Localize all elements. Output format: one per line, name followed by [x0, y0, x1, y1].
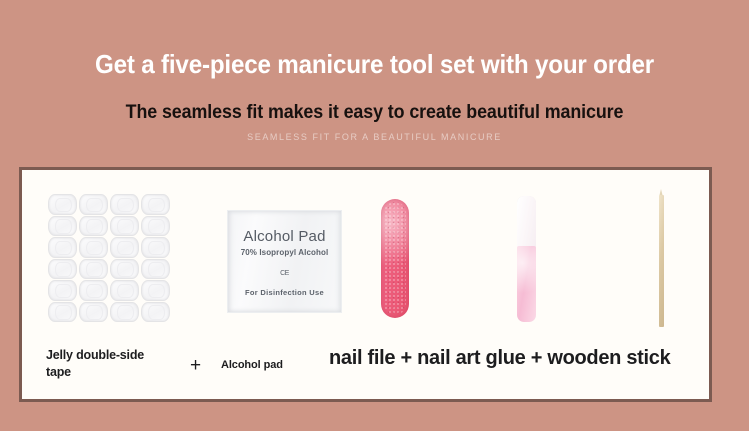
- nail-art-glue-image: [517, 196, 536, 322]
- tape-tab: [110, 280, 139, 301]
- tape-tab: [79, 280, 108, 301]
- tape-tab: [110, 194, 139, 215]
- glue-cap: [517, 196, 536, 249]
- product-caption-row: Jelly double-side tape + Alcohol pad nai…: [22, 338, 709, 399]
- promo-banner: Get a five-piece manicure tool set with …: [0, 0, 749, 431]
- caption-jelly-tape: Jelly double-side tape: [46, 347, 158, 381]
- microcopy-tagline: SEAMLESS FIT FOR A BEAUTIFUL MANICURE: [0, 132, 749, 142]
- product-image-row: Alcohol Pad 70% Isopropyl Alcohol CE For…: [22, 170, 709, 338]
- tape-tab: [48, 216, 77, 237]
- alcohol-pad-image: Alcohol Pad 70% Isopropyl Alcohol CE For…: [227, 210, 342, 313]
- tape-tab: [48, 237, 77, 258]
- tape-tab: [141, 302, 170, 323]
- caption-plus-separator: +: [190, 355, 201, 377]
- tape-tab: [48, 259, 77, 280]
- alcohol-pad-title: Alcohol Pad: [228, 228, 341, 245]
- subheading: The seamless fit makes it easy to create…: [22, 102, 726, 124]
- stick-body: [659, 195, 664, 327]
- alcohol-pad-footer: For Disinfection Use: [228, 288, 341, 297]
- tape-tab: [110, 216, 139, 237]
- tape-tab: [79, 237, 108, 258]
- nail-file-image: [381, 199, 409, 318]
- tape-tab: [79, 194, 108, 215]
- tape-tab: [48, 280, 77, 301]
- tape-tab: [141, 216, 170, 237]
- tape-tab: [79, 216, 108, 237]
- tape-tab: [141, 259, 170, 280]
- tape-tab: [48, 302, 77, 323]
- tape-tab: [141, 237, 170, 258]
- glue-body: [517, 246, 536, 322]
- page-title: Get a five-piece manicure tool set with …: [26, 49, 723, 80]
- product-showcase-panel: Alcohol Pad 70% Isopropyl Alcohol CE For…: [19, 167, 712, 402]
- tape-tab: [79, 259, 108, 280]
- tape-tab: [110, 302, 139, 323]
- tape-tab: [141, 280, 170, 301]
- ce-mark: CE: [228, 270, 341, 277]
- wooden-stick-image: [659, 189, 664, 327]
- jelly-tape-image: [48, 194, 170, 322]
- tape-tab: [141, 194, 170, 215]
- tape-tab: [79, 302, 108, 323]
- alcohol-pad-subtitle: 70% Isopropyl Alcohol: [228, 248, 341, 257]
- tape-tab: [48, 194, 77, 215]
- caption-alcohol-pad: Alcohol pad: [221, 359, 283, 371]
- tape-tab: [110, 237, 139, 258]
- tape-tab: [110, 259, 139, 280]
- caption-remaining-tools: nail file + nail art glue + wooden stick: [329, 347, 670, 370]
